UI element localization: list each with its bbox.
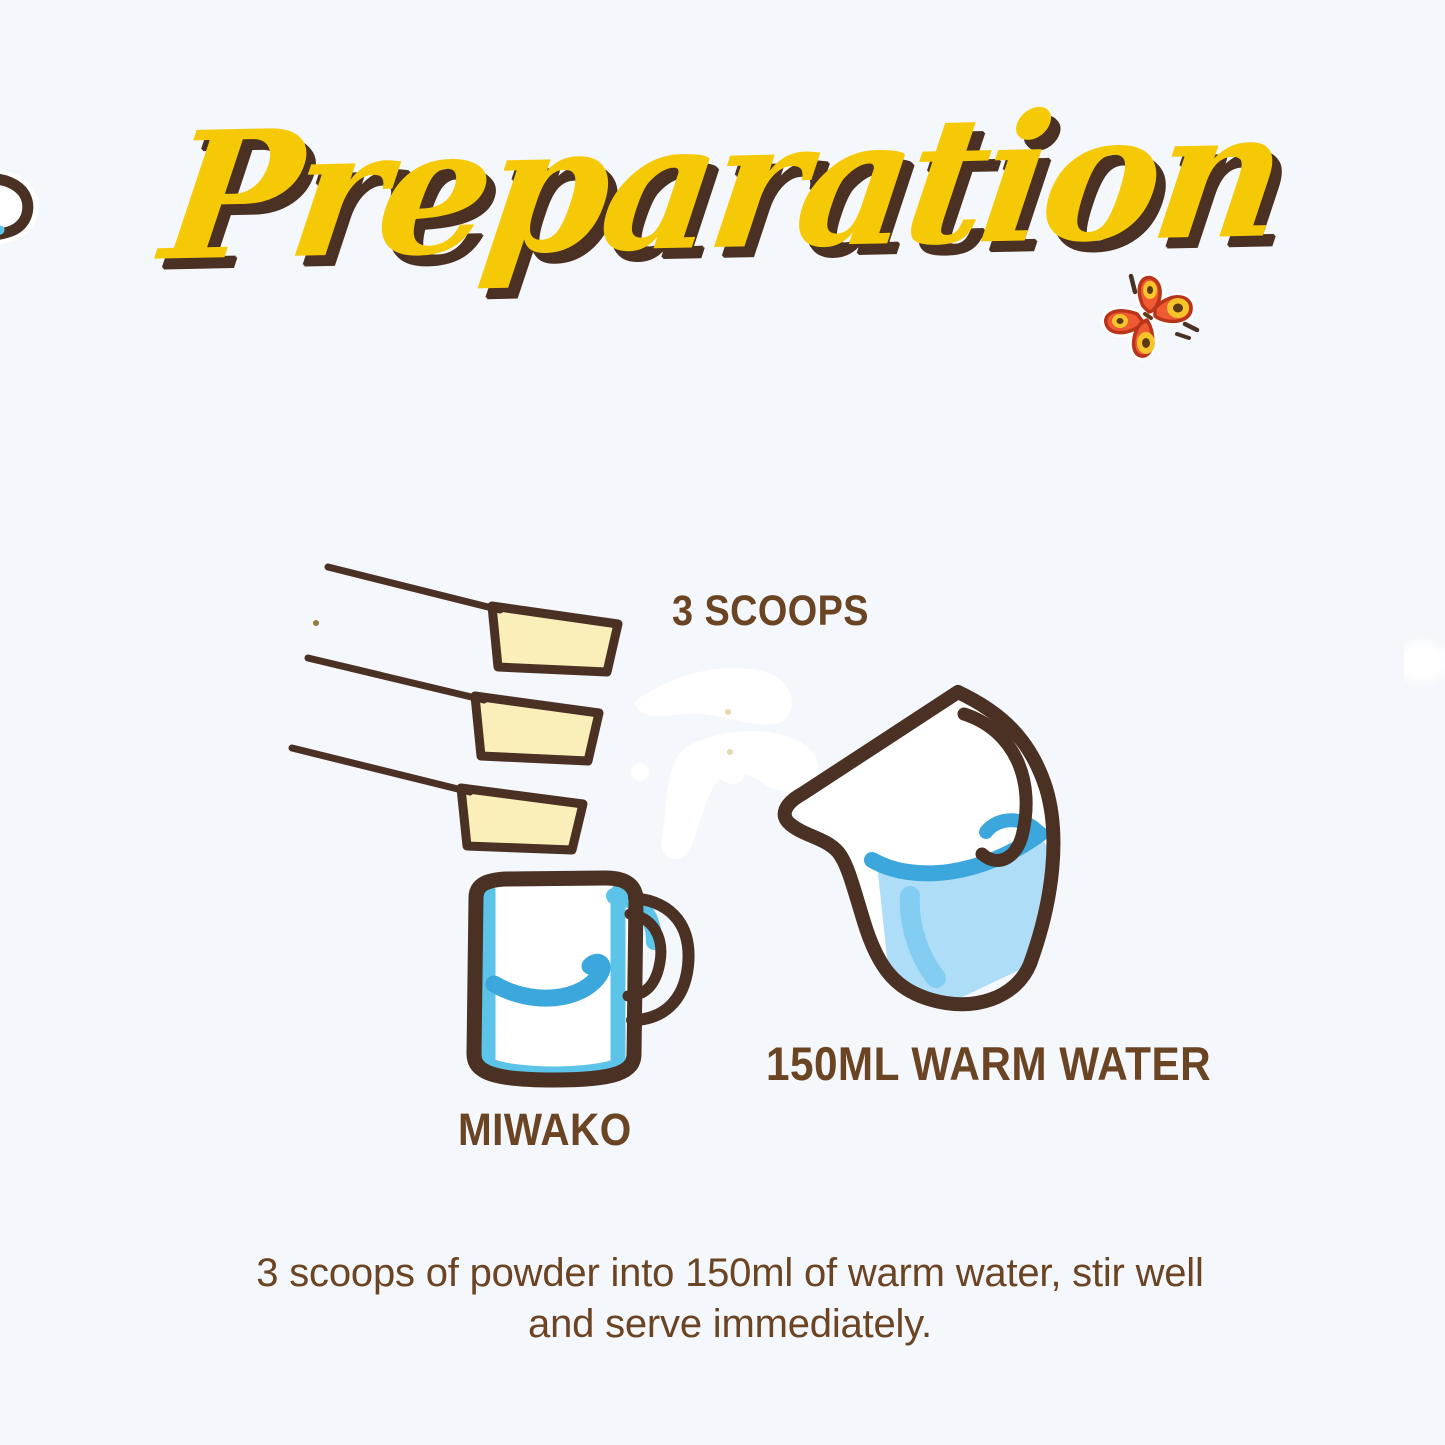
page-title-wrapper: Preparation: [0, 86, 1445, 286]
mug-icon: [448, 862, 710, 1090]
measuring-scoops-group: [278, 548, 638, 858]
preparation-infographic: Preparation: [0, 0, 1445, 1445]
partial-mug-icon: [0, 162, 54, 248]
water-pitcher-icon: [768, 668, 1078, 1028]
mug-brand-label: MIWAKO: [458, 1104, 632, 1156]
caption-line-1: 3 scoops of powder into 150ml of warm wa…: [256, 1251, 1203, 1295]
measuring-scoop-icon: [292, 748, 583, 850]
measuring-scoop-icon: [328, 567, 618, 672]
scoops-label: 3 SCOOPS: [672, 587, 869, 636]
paint-smudge-icon: [1404, 636, 1445, 688]
butterfly-icon: [1093, 262, 1209, 370]
caption-line-2: and serve immediately.: [528, 1302, 932, 1346]
water-amount-label: 150ML WARM WATER: [766, 1036, 1211, 1091]
page-title: Preparation: [0, 71, 1445, 301]
instruction-caption: 3 scoops of powder into 150ml of warm wa…: [190, 1248, 1270, 1350]
